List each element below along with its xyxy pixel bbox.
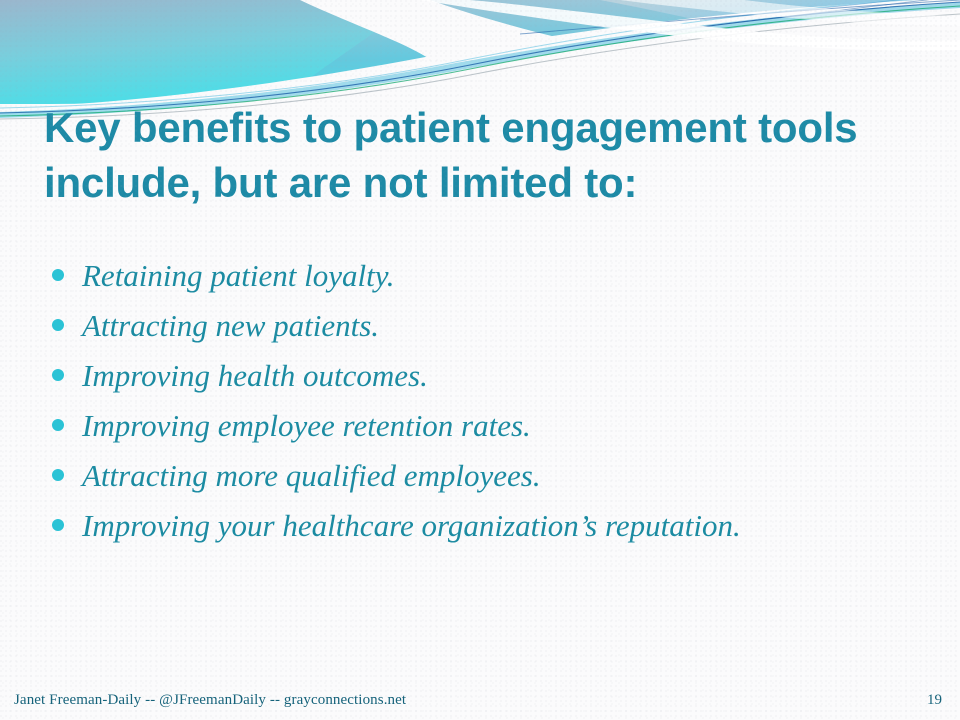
slide-title: Key benefits to patient engagement tools… <box>44 100 884 210</box>
list-item: Retaining patient loyalty. <box>52 258 932 294</box>
list-item-label: Attracting new patients. <box>82 308 379 344</box>
list-item: Attracting new patients. <box>52 308 932 344</box>
slide: Key benefits to patient engagement tools… <box>0 0 960 720</box>
list-item: Attracting more qualified employees. <box>52 458 932 494</box>
bullet-dot-icon <box>52 469 64 481</box>
list-item: Improving employee retention rates. <box>52 408 932 444</box>
bullet-dot-icon <box>52 519 64 531</box>
list-item-label: Improving health outcomes. <box>82 358 428 394</box>
list-item: Improving health outcomes. <box>52 358 932 394</box>
bullet-dot-icon <box>52 319 64 331</box>
list-item-label: Attracting more qualified employees. <box>82 458 541 494</box>
list-item-label: Improving employee retention rates. <box>82 408 531 444</box>
slide-page-number: 19 <box>927 692 942 709</box>
list-item-label: Retaining patient loyalty. <box>82 258 395 294</box>
bullet-dot-icon <box>52 419 64 431</box>
bullet-dot-icon <box>52 269 64 281</box>
benefits-bullet-list: Retaining patient loyalty. Attracting ne… <box>52 258 932 558</box>
list-item-label: Improving your healthcare organization’s… <box>82 508 741 544</box>
footer-credit: Janet Freeman-Daily -- @JFreemanDaily --… <box>14 692 406 709</box>
list-item: Improving your healthcare organization’s… <box>52 508 932 544</box>
bullet-dot-icon <box>52 369 64 381</box>
